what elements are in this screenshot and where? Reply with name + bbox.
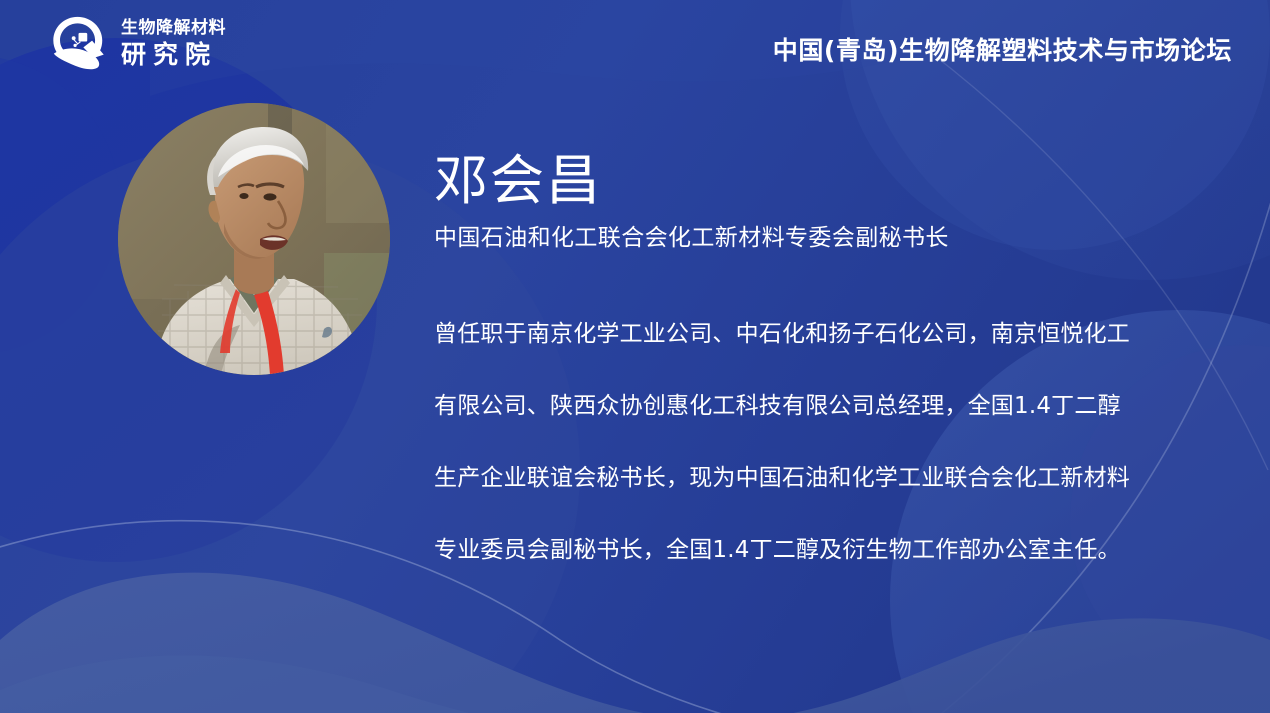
speaker-role: 中国石油和化工联合会化工新材料专委会副秘书长	[434, 224, 1210, 254]
speaker-bio: 曾任职于南京化学工业公司、中石化和扬子石化公司，南京恒悦化工 有限公司、陕西众协…	[434, 298, 1179, 586]
bio-line: 生产企业联谊会秘书长，现为中国石油和化学工业联合会化工新材料	[434, 442, 1179, 514]
speaker-photo	[118, 103, 390, 375]
institute-q-leaf-logo-icon	[48, 12, 110, 74]
speaker-info: 邓会昌 中国石油和化工联合会化工新材料专委会副秘书长 曾任职于南京化学工业公司、…	[434, 150, 1210, 586]
bottom-wave-accent	[0, 655, 700, 713]
bio-line: 有限公司、陕西众协创惠化工科技有限公司总经理，全国1.4丁二醇	[434, 370, 1179, 442]
speaker-portrait-illustration	[118, 103, 390, 375]
speaker-name: 邓会昌	[434, 150, 1210, 212]
bottom-wave-band	[0, 573, 1270, 713]
logo-line-2: 研究院	[121, 42, 226, 67]
slide-header: 生物降解材料 研究院 中国(青岛)生物降解塑料技术与市场论坛	[0, 0, 1270, 88]
logo-line-1: 生物降解材料	[121, 20, 226, 37]
forum-title: 中国(青岛)生物降解塑料技术与市场论坛	[773, 31, 1232, 67]
left-small-circle	[0, 55, 120, 355]
bio-line: 专业委员会副秘书长，全国1.4丁二醇及衍生物工作部办公室主任。	[434, 514, 1179, 586]
speaker-intro-slide: 生物降解材料 研究院 中国(青岛)生物降解塑料技术与市场论坛	[0, 0, 1270, 713]
logo-wordmark: 生物降解材料 研究院	[121, 20, 226, 67]
institute-logo: 生物降解材料 研究院	[48, 12, 226, 74]
bio-line: 曾任职于南京化学工业公司、中石化和扬子石化公司，南京恒悦化工	[434, 298, 1179, 370]
